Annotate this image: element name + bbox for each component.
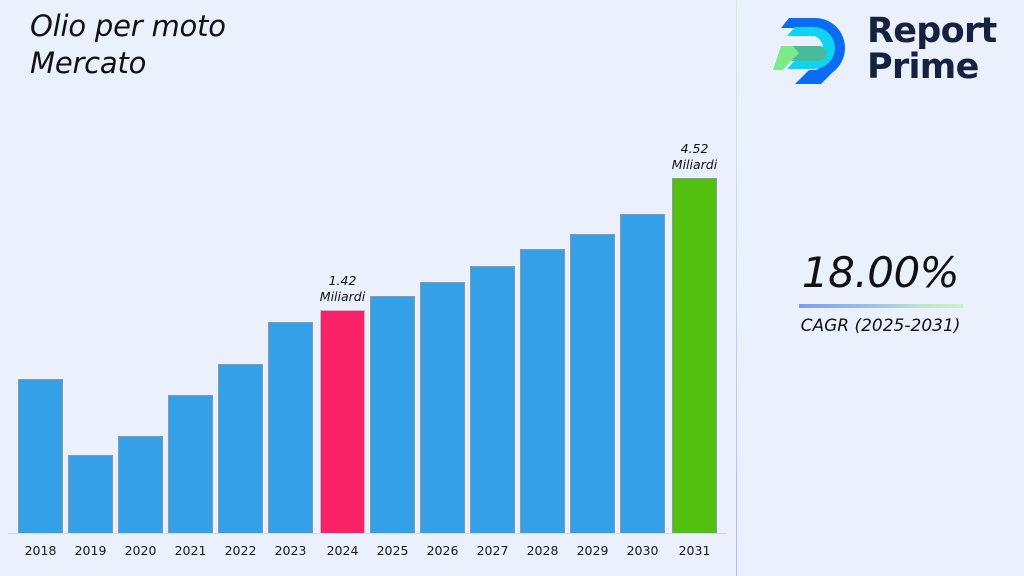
bar-2030[interactable] — [620, 214, 665, 533]
chart-panel: Olio per moto Mercato 201820192020202120… — [0, 0, 737, 576]
bar-2020[interactable] — [118, 436, 163, 533]
brand-panel: Report Prime 18.00% CAGR (2025-2031) — [737, 0, 1024, 576]
cagr-caption: CAGR (2025-2031) — [737, 316, 1024, 336]
infographic-root: Olio per moto Mercato 201820192020202120… — [0, 0, 1024, 576]
brand-wordmark: Report Prime — [867, 14, 997, 85]
report-prime-logo: Report Prime — [769, 10, 997, 90]
bar-2022[interactable] — [218, 364, 263, 533]
bar-2025[interactable] — [370, 296, 415, 533]
cagr-value: 18.00% — [737, 252, 1024, 294]
bar-2026[interactable] — [420, 282, 465, 533]
bar-2019[interactable] — [68, 455, 113, 533]
cagr-block: 18.00% CAGR (2025-2031) — [737, 252, 1024, 336]
report-prime-r-logo-icon — [769, 10, 855, 90]
bar-2029[interactable] — [570, 234, 615, 533]
x-axis-line — [8, 533, 727, 534]
bar-chart-plot-area: 20182019202020212022202320241.42 Miliard… — [0, 0, 737, 576]
bar-2028[interactable] — [520, 249, 565, 533]
bar-2021[interactable] — [168, 395, 213, 533]
cagr-divider-rule — [799, 304, 963, 308]
bar-2024[interactable] — [320, 310, 365, 533]
bar-2027[interactable] — [470, 266, 515, 533]
bar-2023[interactable] — [268, 322, 313, 533]
bar-2031[interactable] — [672, 178, 717, 533]
x-tick-label-2031: 2031 — [664, 543, 725, 558]
bar-value-label-2031: 4.52 Miliardi — [646, 141, 743, 172]
bar-2018[interactable] — [18, 379, 63, 533]
